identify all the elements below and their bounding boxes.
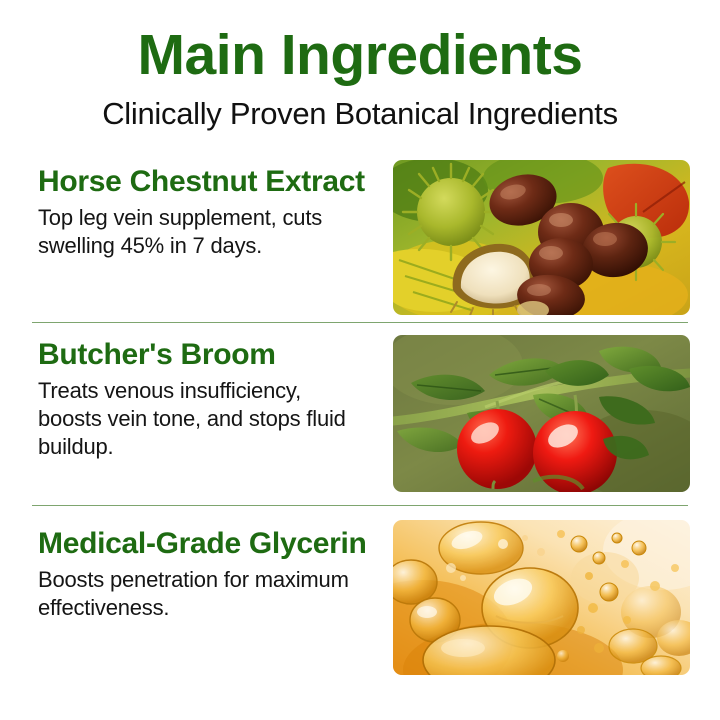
ingredient-text-block: Butcher's Broom Treats venous insufficie… xyxy=(38,323,368,461)
ingredient-item-horse-chestnut: Horse Chestnut Extract Top leg vein supp… xyxy=(0,152,720,322)
ingredient-text-block: Medical-Grade Glycerin Boosts penetratio… xyxy=(38,506,368,622)
ingredient-description: Treats venous insufficiency, boosts vein… xyxy=(38,377,368,460)
horse-chestnut-photo xyxy=(393,160,690,315)
ingredient-item-butchers-broom: Butcher's Broom Treats venous insufficie… xyxy=(0,323,720,505)
ingredient-item-glycerin: Medical-Grade Glycerin Boosts penetratio… xyxy=(0,506,720,678)
header: Main Ingredients Clinically Proven Botan… xyxy=(0,0,720,132)
ingredient-description: Top leg vein supplement, cuts swelling 4… xyxy=(38,204,368,259)
ingredients-infographic: Main Ingredients Clinically Proven Botan… xyxy=(0,0,720,720)
glycerin-photo xyxy=(393,520,690,675)
ingredient-name: Medical-Grade Glycerin xyxy=(38,528,368,560)
ingredient-description: Boosts penetration for maximum effective… xyxy=(38,566,368,621)
ingredient-name: Horse Chestnut Extract xyxy=(38,166,368,198)
ingredient-text-block: Horse Chestnut Extract Top leg vein supp… xyxy=(38,152,368,260)
ingredient-list: Horse Chestnut Extract Top leg vein supp… xyxy=(0,152,720,678)
page-subtitle: Clinically Proven Botanical Ingredients xyxy=(0,95,720,132)
ingredient-name: Butcher's Broom xyxy=(38,339,368,371)
page-title: Main Ingredients xyxy=(0,26,720,86)
butchers-broom-photo xyxy=(393,335,690,492)
